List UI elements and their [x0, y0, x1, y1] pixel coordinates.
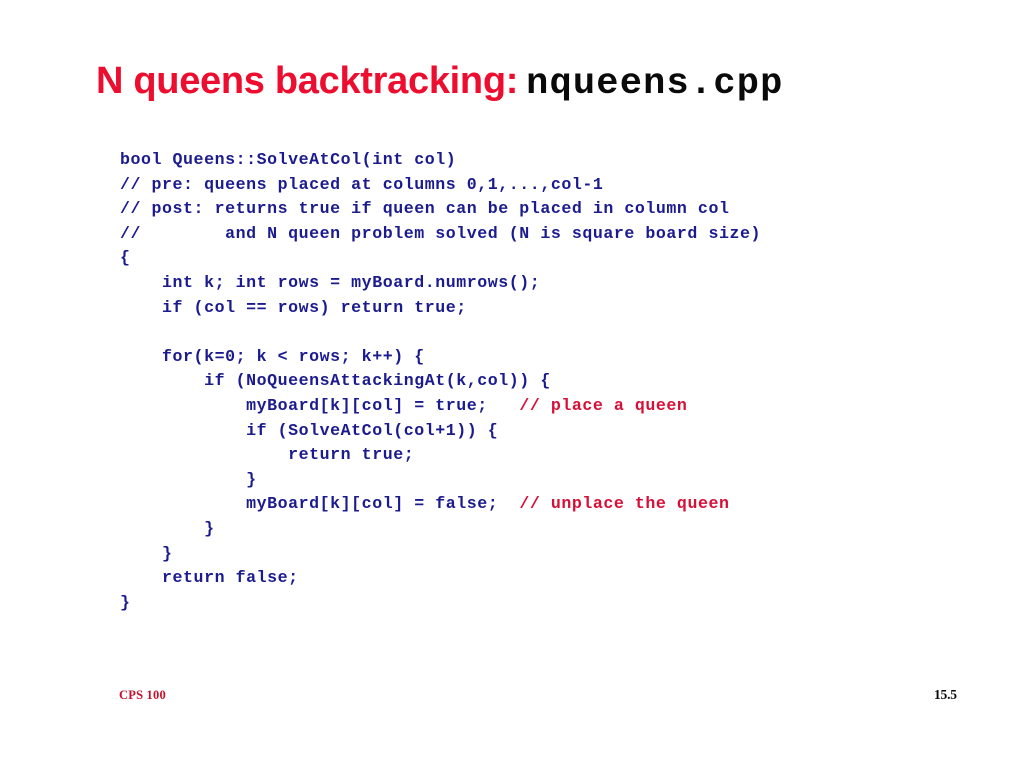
- code-text: }: [120, 470, 257, 489]
- code-text: // and N queen problem solved (N is squa…: [120, 224, 761, 243]
- code-line: return true;: [120, 443, 761, 468]
- code-line: if (col == rows) return true;: [120, 296, 761, 321]
- code-text: int k; int rows = myBoard.numrows();: [120, 273, 540, 292]
- slide-canvas: N queens backtracking:nqueens.cpp bool Q…: [0, 0, 1024, 768]
- code-line: myBoard[k][col] = false; // unplace the …: [120, 492, 761, 517]
- code-line: {: [120, 246, 761, 271]
- code-text: }: [120, 519, 215, 538]
- code-text: // pre: queens placed at columns 0,1,...…: [120, 175, 603, 194]
- code-text: return false;: [120, 568, 299, 587]
- code-line: for(k=0; k < rows; k++) {: [120, 345, 761, 370]
- footer-page-number: 15.5: [934, 687, 957, 703]
- code-listing: bool Queens::SolveAtCol(int col)// pre: …: [120, 148, 761, 615]
- page-title: N queens backtracking:nqueens.cpp: [96, 62, 784, 103]
- code-text: }: [120, 593, 131, 612]
- code-line: }: [120, 517, 761, 542]
- footer-course-label: CPS 100: [119, 688, 166, 703]
- code-line: // post: returns true if queen can be pl…: [120, 197, 761, 222]
- code-line: return false;: [120, 566, 761, 591]
- code-text: {: [120, 248, 131, 267]
- code-line: }: [120, 542, 761, 567]
- code-text: myBoard[k][col] = true;: [120, 396, 519, 415]
- code-line: }: [120, 468, 761, 493]
- code-line: [120, 320, 761, 345]
- code-comment: // place a queen: [519, 396, 687, 415]
- page-title-main: N queens backtracking:: [96, 60, 518, 102]
- code-text: if (SolveAtCol(col+1)) {: [120, 421, 498, 440]
- code-text: if (NoQueensAttackingAt(k,col)) {: [120, 371, 551, 390]
- code-text: myBoard[k][col] = false;: [120, 494, 519, 513]
- code-text: }: [120, 544, 173, 563]
- code-line: int k; int rows = myBoard.numrows();: [120, 271, 761, 296]
- code-line: myBoard[k][col] = true; // place a queen: [120, 394, 761, 419]
- code-line: if (SolveAtCol(col+1)) {: [120, 419, 761, 444]
- code-line: if (NoQueensAttackingAt(k,col)) {: [120, 369, 761, 394]
- code-text: // post: returns true if queen can be pl…: [120, 199, 729, 218]
- code-comment: // unplace the queen: [519, 494, 729, 513]
- code-line: // and N queen problem solved (N is squa…: [120, 222, 761, 247]
- code-line: // pre: queens placed at columns 0,1,...…: [120, 173, 761, 198]
- code-text: for(k=0; k < rows; k++) {: [120, 347, 425, 366]
- code-text: bool Queens::SolveAtCol(int col): [120, 150, 456, 169]
- page-title-filename: nqueens.cpp: [526, 63, 783, 105]
- code-line: bool Queens::SolveAtCol(int col): [120, 148, 761, 173]
- code-text: if (col == rows) return true;: [120, 298, 467, 317]
- code-line: }: [120, 591, 761, 616]
- code-text: return true;: [120, 445, 414, 464]
